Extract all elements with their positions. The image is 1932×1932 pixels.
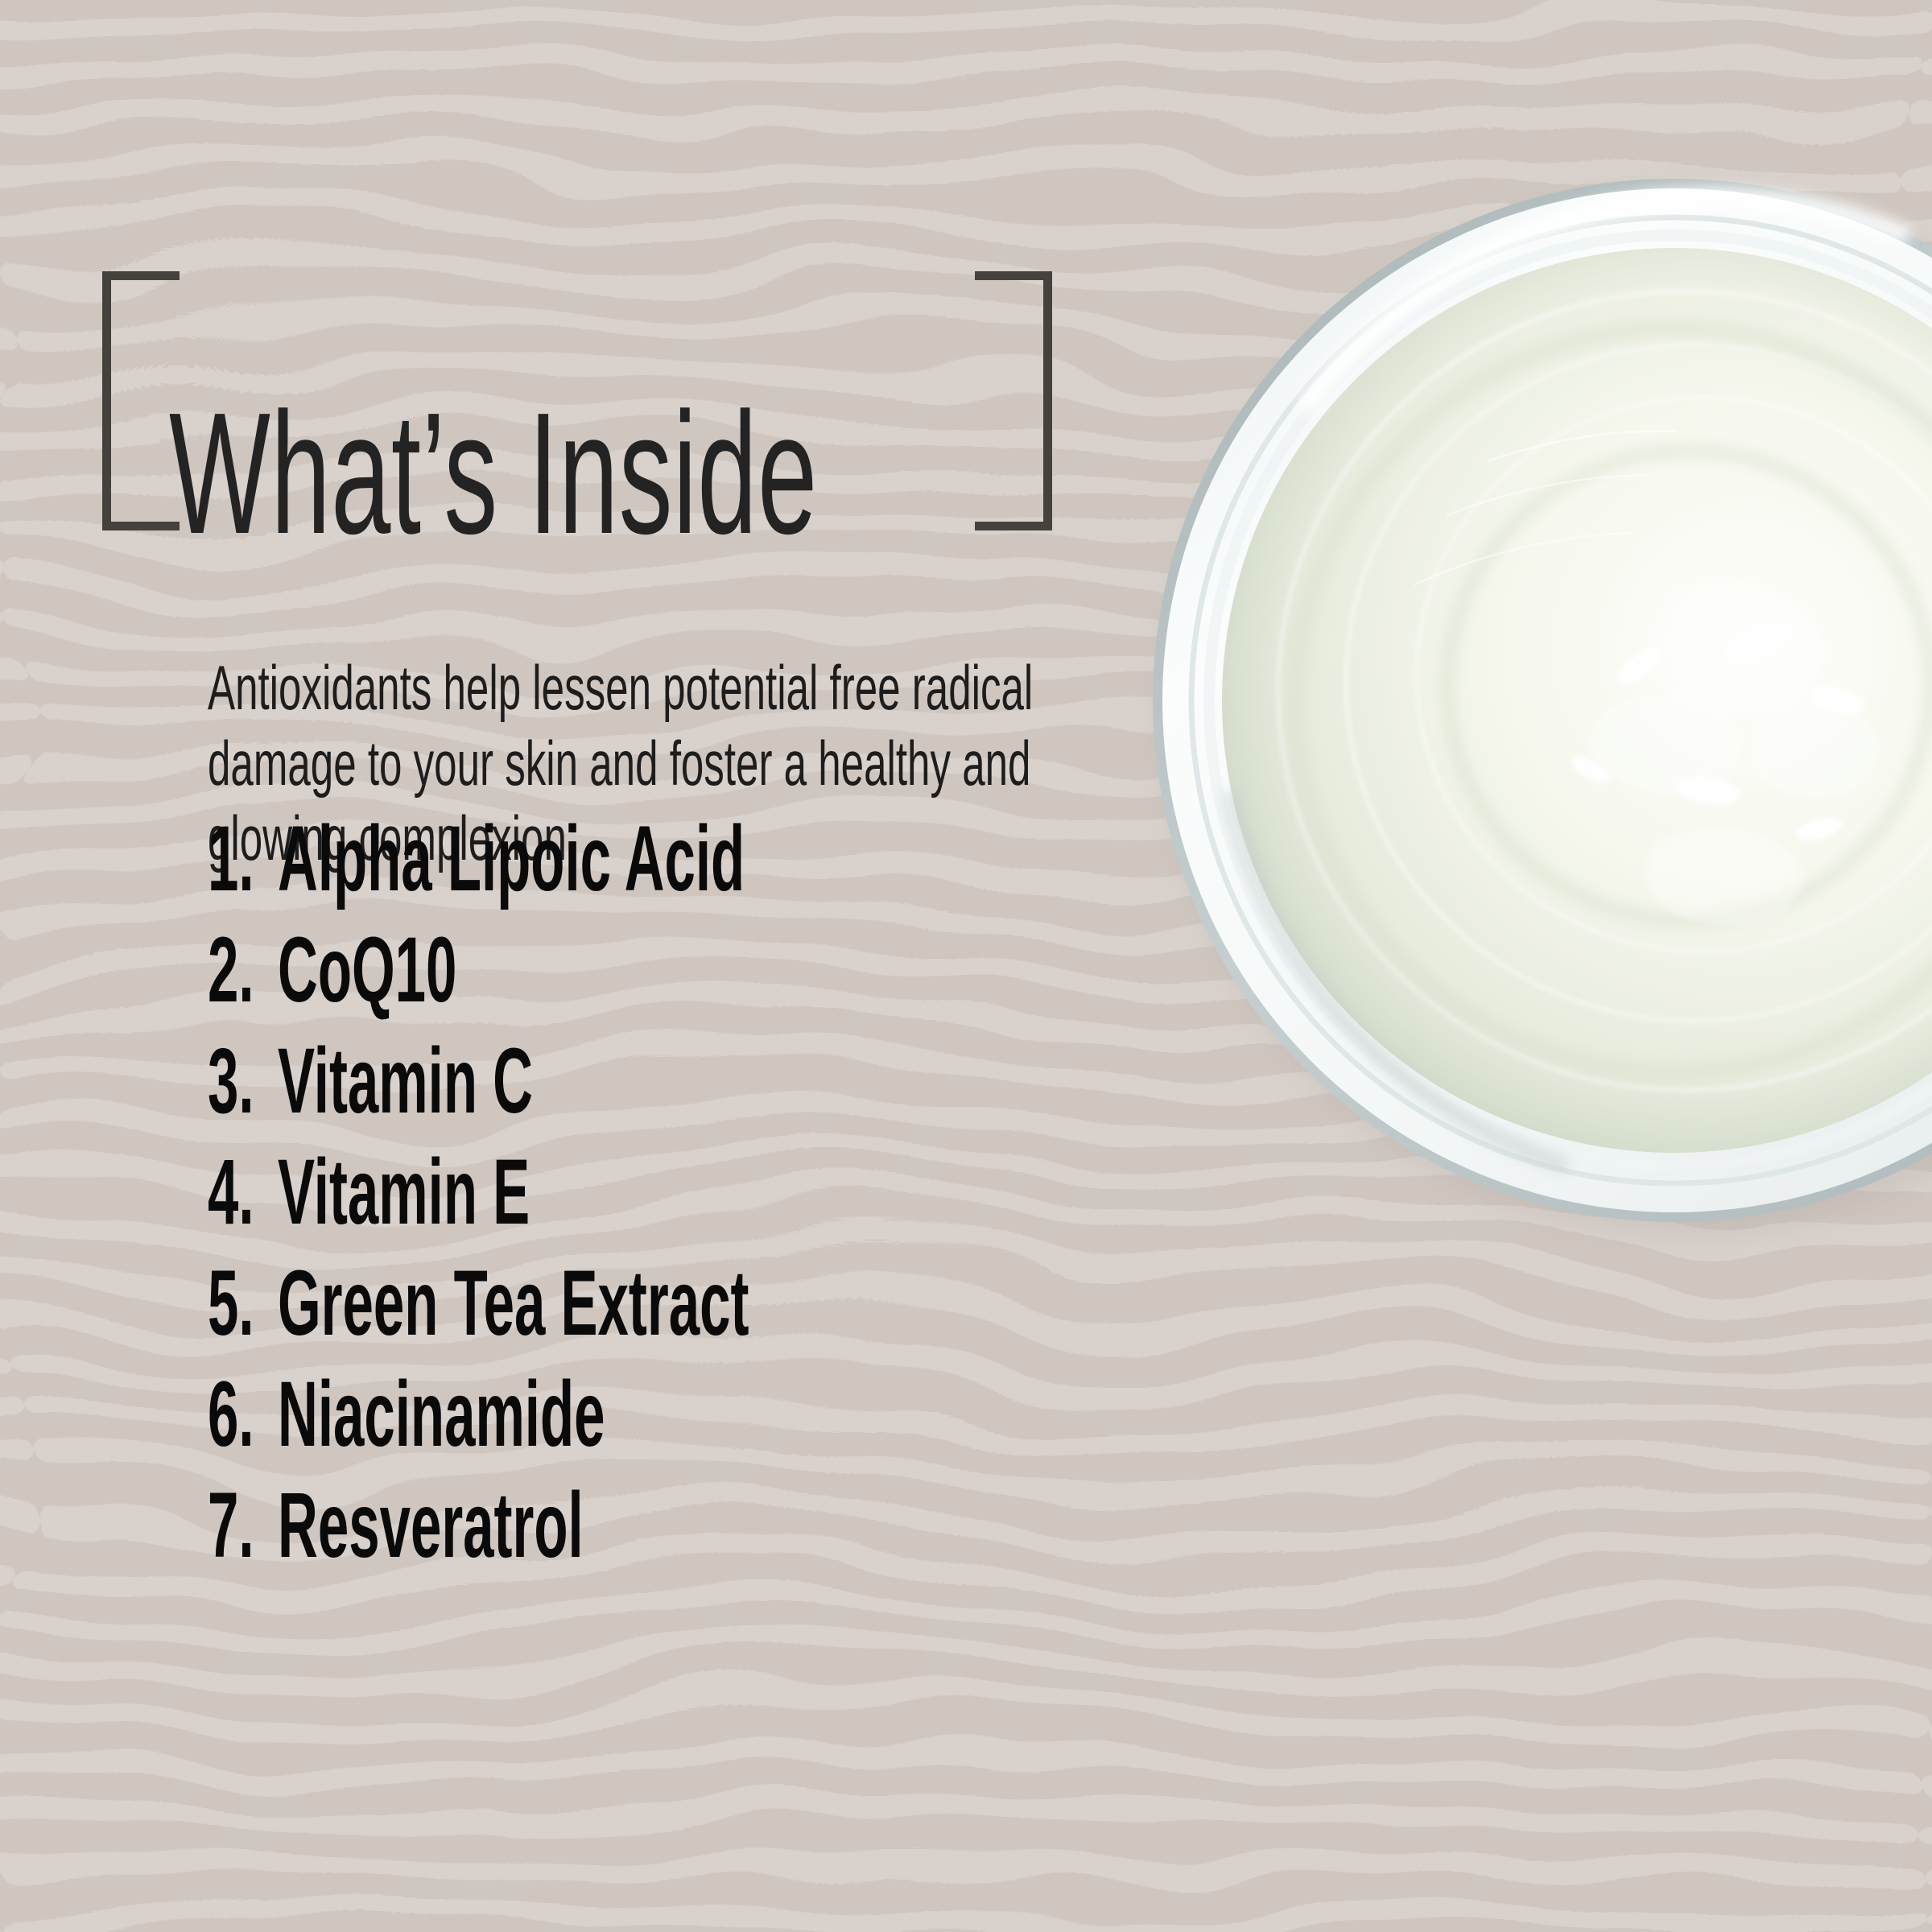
- list-item-index: 7.: [208, 1480, 278, 1572]
- list-item-index: 5.: [208, 1257, 278, 1350]
- list-item-label: Resveratrol: [278, 1480, 584, 1572]
- list-item-index: 1.: [208, 813, 278, 906]
- text-content-column: What’s Inside Antioxidants help lessen p…: [0, 0, 1127, 1932]
- list-item-label: Vitamin E: [278, 1146, 530, 1239]
- list-item-label: Alpha Lipoic Acid: [278, 813, 745, 906]
- left-bracket-icon: [102, 271, 180, 530]
- list-item-label: CoQ10: [278, 924, 456, 1017]
- list-item: 4. Vitamin E: [208, 1146, 1077, 1257]
- list-item: 6. Niacinamide: [208, 1368, 1077, 1480]
- list-item-index: 3.: [208, 1035, 278, 1128]
- list-item: 3. Vitamin C: [208, 1035, 1077, 1146]
- list-item-index: 6.: [208, 1368, 278, 1461]
- list-item: 5. Green Tea Extract: [208, 1257, 1077, 1368]
- list-item: 1. Alpha Lipoic Acid: [208, 813, 1077, 924]
- page-title: What’s Inside: [169, 386, 818, 559]
- list-item-label: Vitamin C: [278, 1035, 533, 1128]
- ingredient-list: 1. Alpha Lipoic Acid 2. CoQ10 3. Vitamin…: [208, 813, 1657, 1591]
- list-item-index: 4.: [208, 1146, 278, 1239]
- list-item: 2. CoQ10: [208, 924, 1077, 1035]
- list-item-index: 2.: [208, 924, 278, 1017]
- list-item: 7. Resveratrol: [208, 1480, 1077, 1591]
- list-item-label: Green Tea Extract: [278, 1257, 749, 1350]
- poster-canvas: What’s Inside Antioxidants help lessen p…: [0, 0, 1932, 1932]
- list-item-label: Niacinamide: [278, 1368, 605, 1461]
- right-bracket-icon: [975, 271, 1052, 530]
